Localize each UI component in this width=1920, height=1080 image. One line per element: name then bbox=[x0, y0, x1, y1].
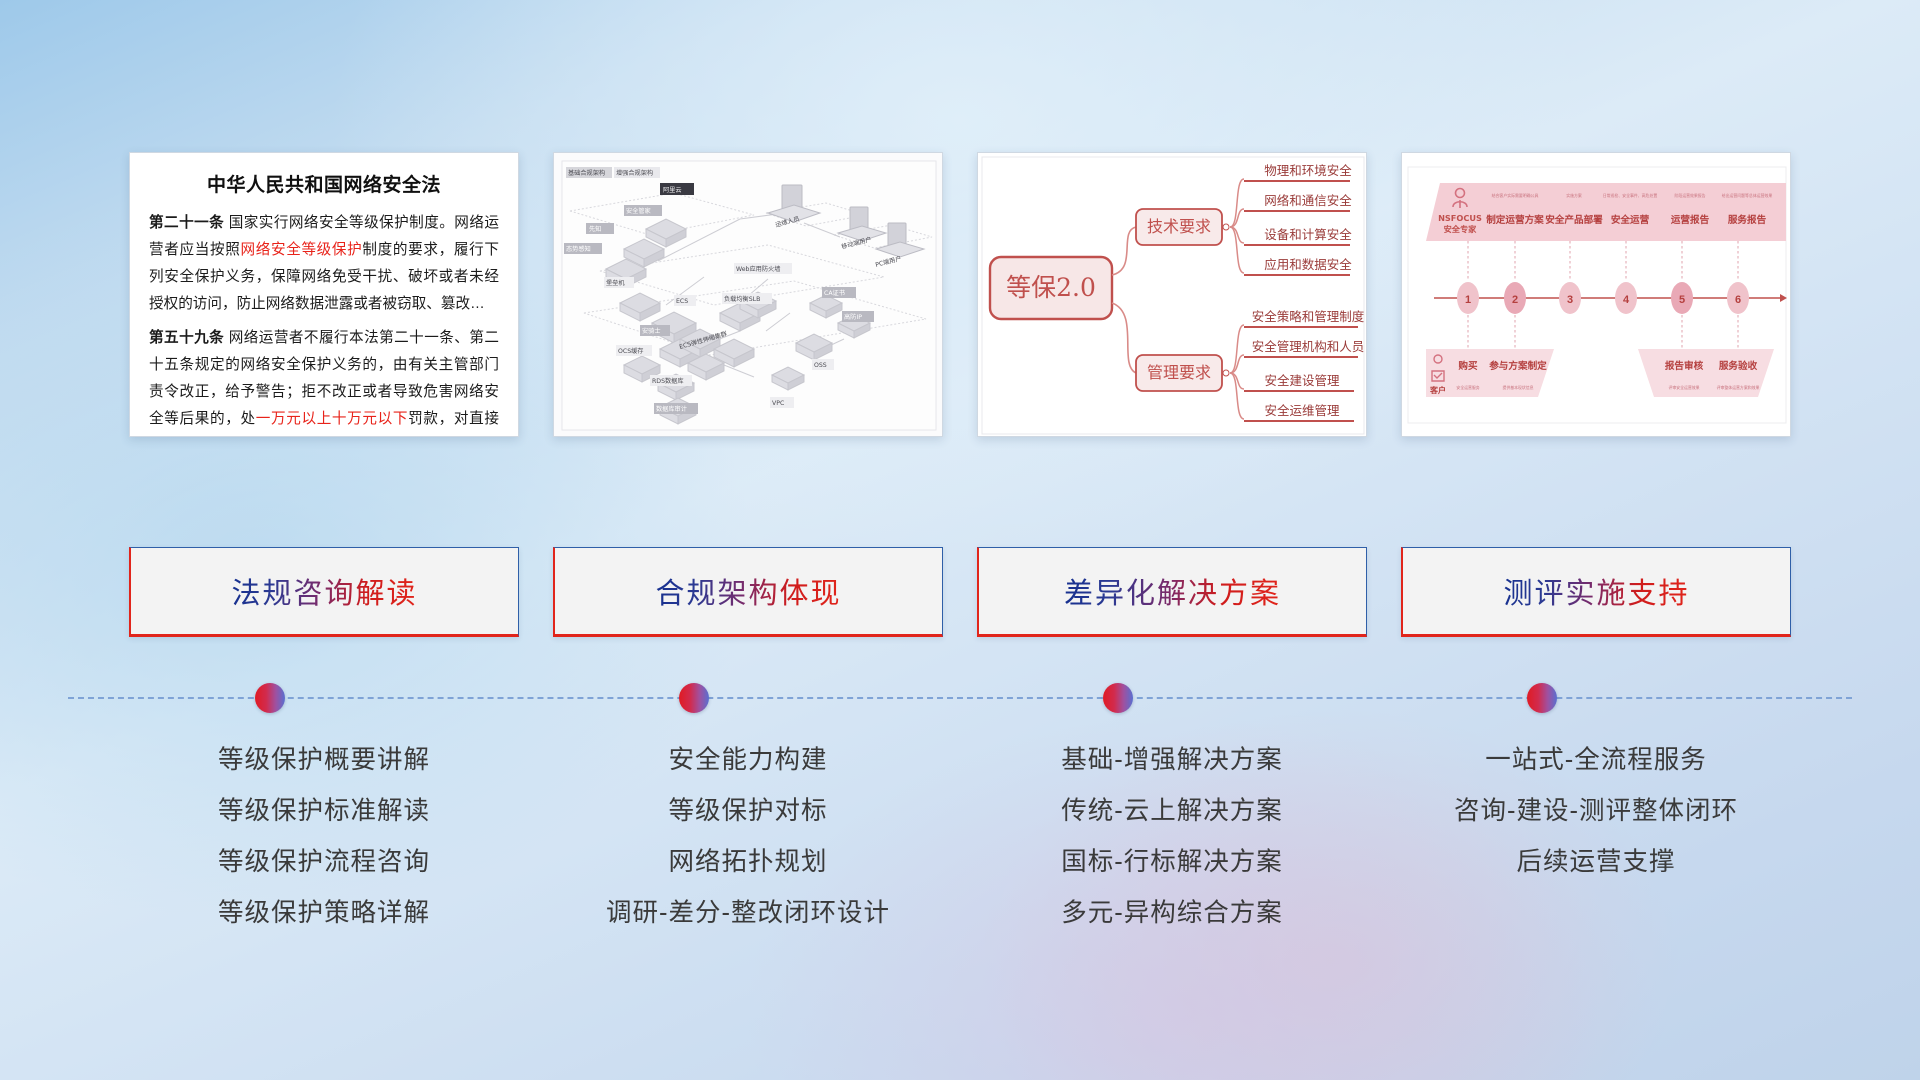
nsfocus-top-caption-4: 给出运营问题等总体运营效果 bbox=[1722, 193, 1773, 198]
timeline-dashed-line bbox=[68, 697, 1852, 699]
nsfocus-top-banner bbox=[1426, 183, 1786, 241]
category-button-3-label: 测评实施支持 bbox=[1503, 570, 1689, 612]
card-architecture-diagram[interactable]: 基础合规架构 增强合规架构 阿里云 安全管家 先知 态势感知 堡垒机 ECS 安… bbox=[553, 152, 943, 437]
service-lists-row: 等级保护概要讲解 等级保护标准解读 等级保护流程咨询 等级保护策略详解 安全能力… bbox=[0, 735, 1920, 939]
mindmap-root-label: 等保2.0 bbox=[1006, 273, 1096, 302]
law-article-59-label: 第五十九条 bbox=[149, 330, 224, 346]
arch-label-13: OSS bbox=[814, 362, 827, 369]
card-law-document[interactable]: 中华人民共和国网络安全法 第二十一条 国家实行网络安全等级保护制度。网络运营者应… bbox=[129, 152, 519, 437]
arch-label-10: 负载均衡SLB bbox=[724, 295, 760, 303]
list-item: 等级保护概要讲解 bbox=[218, 735, 430, 786]
arch-label-1: 先知 bbox=[589, 225, 601, 233]
list-item: 国标-行标解决方案 bbox=[1061, 837, 1283, 888]
law-title: 中华人民共和国网络安全法 bbox=[149, 170, 499, 197]
timeline-dot-1 bbox=[679, 683, 709, 713]
list-item: 等级保护标准解读 bbox=[218, 786, 430, 837]
preview-cards-row: 中华人民共和国网络安全法 第二十一条 国家实行网络安全等级保护制度。网络运营者应… bbox=[0, 152, 1920, 442]
nsfocus-customer-role: 客户 bbox=[1429, 385, 1446, 395]
mindmap-branch-0-leaf-1: 网络和通信安全 bbox=[1264, 193, 1352, 208]
nsfocus-top-title-3: 运营报告 bbox=[1671, 214, 1710, 226]
arch-label-4: ECS bbox=[676, 298, 688, 305]
nsfocus-top-title-2: 安全运营 bbox=[1611, 214, 1650, 226]
arch-label-0: 安全管家 bbox=[626, 207, 651, 215]
list-item: 等级保护流程咨询 bbox=[218, 837, 430, 888]
nsfocus-bottom-caption-1: 提供基本现状信息 bbox=[1502, 385, 1533, 390]
arch-label-cloud: 阿里云 bbox=[663, 186, 682, 194]
arch-label-5: 安骑士 bbox=[642, 327, 661, 335]
list-item: 多元-异构综合方案 bbox=[1061, 888, 1283, 939]
law-article-59: 第五十九条 网络运营者不履行本法第二十一条、第二十五条规定的网络安全保护义务的，… bbox=[149, 325, 499, 437]
timeline-dot-3 bbox=[1527, 683, 1557, 713]
architecture-diagram: 基础合规架构 增强合规架构 阿里云 安全管家 先知 态势感知 堡垒机 ECS 安… bbox=[554, 153, 942, 436]
law-article-21-label: 第二十一条 bbox=[149, 215, 224, 231]
nsfocus-bottom-title-3: 服务验收 bbox=[1719, 360, 1758, 372]
nsfocus-top-caption-1: 实施方案 bbox=[1566, 193, 1582, 198]
list-item: 传统-云上解决方案 bbox=[1061, 786, 1283, 837]
list-item: 安全能力构建 bbox=[668, 735, 827, 786]
mindmap-branch-1-leaf-1: 安全管理机构和人员 bbox=[1252, 339, 1365, 354]
nsfocus-bottom-caption-2: 评审安全运营效果 bbox=[1668, 385, 1699, 390]
arch-label-3: 堡垒机 bbox=[606, 279, 625, 287]
nsfocus-bottom-caption-3: 评审整体运营方案和效果 bbox=[1717, 385, 1760, 390]
timeline-dot-2 bbox=[1103, 683, 1133, 713]
law-article-21: 第二十一条 国家实行网络安全等级保护制度。网络运营者应当按照网络安全等级保护制度… bbox=[149, 210, 499, 318]
mindmap-branch-0-leaf-0: 物理和环境安全 bbox=[1264, 163, 1352, 178]
nsfocus-expert-name: NSFOCUS bbox=[1438, 213, 1482, 223]
category-button-1-label: 合规架构体现 bbox=[655, 570, 841, 612]
nsfocus-top-caption-3: 阶段运营效果报告 bbox=[1674, 193, 1705, 198]
arch-label-7: RDS数据库 bbox=[652, 377, 684, 385]
list-item: 一站式-全流程服务 bbox=[1485, 735, 1707, 786]
mindmap-branch-0-leaf-3: 应用和数据安全 bbox=[1264, 257, 1352, 272]
law-article-21-highlight: 网络安全等级保护 bbox=[240, 242, 362, 258]
arch-tab-enhanced: 增强合规架构 bbox=[616, 169, 653, 177]
category-button-0[interactable]: 法规咨询解读 bbox=[129, 547, 519, 637]
category-button-3[interactable]: 测评实施支持 bbox=[1401, 547, 1791, 637]
list-item: 网络拓扑规划 bbox=[668, 837, 827, 888]
list-item: 等级保护对标 bbox=[668, 786, 827, 837]
arch-label-2: 态势感知 bbox=[566, 245, 591, 253]
service-list-0: 等级保护概要讲解 等级保护标准解读 等级保护流程咨询 等级保护策略详解 bbox=[129, 735, 519, 939]
nsfocus-bottom-caption-0: 安全运营服务 bbox=[1456, 385, 1479, 390]
list-item: 后续运营支撑 bbox=[1516, 837, 1675, 888]
nsfocus-svg: NSFOCUS 安全专家 结合客户实际需要明确公具 制定运营方案 实施方案 安全… bbox=[1402, 153, 1791, 437]
list-item: 等级保护策略详解 bbox=[218, 888, 430, 939]
mindmap-branch-1-leaf-0: 安全策略和管理制度 bbox=[1252, 309, 1365, 324]
list-item: 调研-差分-整改闭环设计 bbox=[606, 888, 890, 939]
arch-tab-basic: 基础合规架构 bbox=[568, 169, 605, 177]
nsfocus-top-caption-0: 结合客户实际需要明确公具 bbox=[1492, 193, 1539, 198]
arch-label-8: 数据库审计 bbox=[656, 405, 687, 413]
category-button-2-label: 差异化解决方案 bbox=[1064, 570, 1281, 612]
category-buttons-row: 法规咨询解读 合规架构体现 差异化解决方案 测评实施支持 bbox=[0, 547, 1920, 637]
service-list-1: 安全能力构建 等级保护对标 网络拓扑规划 调研-差分-整改闭环设计 bbox=[553, 735, 943, 939]
card-nsfocus-timeline[interactable]: NSFOCUS 安全专家 结合客户实际需要明确公具 制定运营方案 实施方案 安全… bbox=[1401, 152, 1791, 437]
nsfocus-marker-5: 6 bbox=[1735, 294, 1741, 306]
mindmap-branch-1-label: 管理要求 bbox=[1147, 363, 1211, 382]
service-list-3: 一站式-全流程服务 咨询-建设-测评整体闭环 后续运营支撑 bbox=[1401, 735, 1791, 939]
law-document-body: 中华人民共和国网络安全法 第二十一条 国家实行网络安全等级保护制度。网络运营者应… bbox=[130, 153, 518, 437]
nsfocus-top-caption-2: 日常巡检、安全事件、高危处置 bbox=[1603, 193, 1658, 198]
nsfocus-top-title-1: 安全产品部署 bbox=[1545, 214, 1603, 226]
nsfocus-top-title-0: 制定运营方案 bbox=[1486, 214, 1544, 226]
nsfocus-bottom-title-1: 参与方案制定 bbox=[1489, 360, 1547, 372]
arch-label-9: Web应用防火墙 bbox=[736, 265, 780, 273]
mindmap-branch-1-leaf-3: 安全运维管理 bbox=[1264, 403, 1340, 418]
mindmap-svg: 等保2.0 技术要求 物理和环境安全 网络和通信安全 设备和计算安全 bbox=[978, 153, 1367, 437]
category-button-0-label: 法规咨询解读 bbox=[231, 570, 417, 612]
nsfocus-bottom-title-0: 购买 bbox=[1458, 360, 1478, 372]
card-mindmap[interactable]: 等保2.0 技术要求 物理和环境安全 网络和通信安全 设备和计算安全 bbox=[977, 152, 1367, 437]
list-item: 基础-增强解决方案 bbox=[1061, 735, 1283, 786]
nsfocus-marker-3: 4 bbox=[1623, 294, 1630, 306]
arch-label-6: OCS缓存 bbox=[618, 347, 644, 355]
nsfocus-expert-role: 安全专家 bbox=[1444, 224, 1478, 234]
mindmap-branch-0-label: 技术要求 bbox=[1147, 217, 1211, 236]
arch-label-12: 高防IP bbox=[844, 313, 862, 321]
nsfocus-top-title-4: 服务报告 bbox=[1728, 214, 1767, 226]
mindmap-branch-1-leaf-2: 安全建设管理 bbox=[1264, 373, 1340, 388]
service-list-2: 基础-增强解决方案 传统-云上解决方案 国标-行标解决方案 多元-异构综合方案 bbox=[977, 735, 1367, 939]
nsfocus-marker-4: 5 bbox=[1679, 294, 1685, 306]
arch-label-14: VPC bbox=[772, 400, 784, 407]
list-item: 咨询-建设-测评整体闭环 bbox=[1454, 786, 1738, 837]
architecture-svg: 基础合规架构 增强合规架构 阿里云 安全管家 先知 态势感知 堡垒机 ECS 安… bbox=[554, 153, 943, 437]
nsfocus-marker-0: 1 bbox=[1465, 294, 1471, 306]
timeline-dot-0 bbox=[255, 683, 285, 713]
nsfocus-bottom-title-2: 报告审核 bbox=[1665, 360, 1704, 372]
law-article-59-highlight-1: 一万元以上十万元以下 bbox=[256, 411, 408, 427]
arch-label-11: CA证书 bbox=[824, 289, 845, 297]
category-button-1[interactable]: 合规架构体现 bbox=[553, 547, 943, 637]
category-button-2[interactable]: 差异化解决方案 bbox=[977, 547, 1367, 637]
nsfocus-marker-1: 2 bbox=[1512, 294, 1518, 306]
nsfocus-marker-2: 3 bbox=[1567, 294, 1573, 306]
nsfocus-timeline-diagram: NSFOCUS 安全专家 结合客户实际需要明确公具 制定运营方案 实施方案 安全… bbox=[1402, 153, 1790, 436]
mindmap-branch-0-leaf-2: 设备和计算安全 bbox=[1264, 227, 1352, 242]
mindmap-diagram: 等保2.0 技术要求 物理和环境安全 网络和通信安全 设备和计算安全 bbox=[978, 153, 1366, 436]
